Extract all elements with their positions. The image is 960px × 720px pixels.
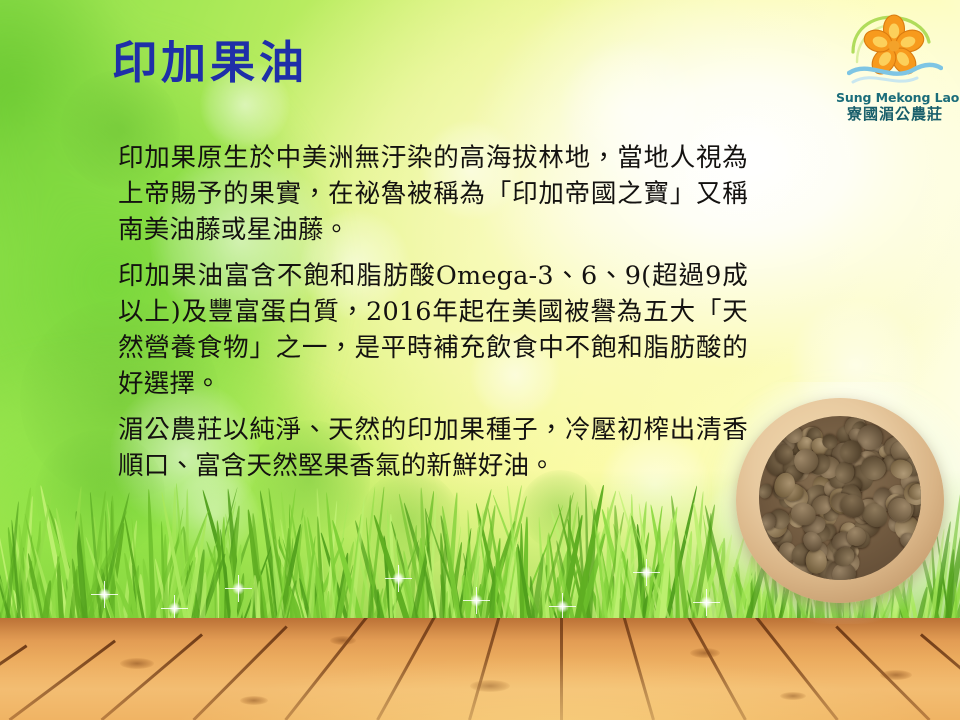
grass-sparkle (470, 594, 483, 607)
slide-canvas: 印加果油 印加果原生於中美洲無汙染的高海拔林地，當地人視為上帝賜予的果實，在祕魯… (0, 0, 960, 720)
grass-sparkle (168, 602, 181, 615)
body-text: 印加果原生於中美洲無汙染的高海拔林地，當地人視為上帝賜予的果實，在祕魯被稱為「印… (118, 140, 748, 484)
paragraph-1: 印加果原生於中美洲無汙染的高海拔林地，當地人視為上帝賜予的果實，在祕魯被稱為「印… (118, 140, 748, 248)
plumeria-flower-icon (847, 10, 943, 90)
grass-sparkle (392, 572, 405, 585)
grass-sparkle (98, 588, 111, 601)
seed-bowl-image (728, 396, 960, 614)
logo-chinese-name: 寮國湄公農莊 (836, 105, 954, 124)
page-title: 印加果油 (112, 38, 308, 88)
paragraph-3: 湄公農莊以純淨、天然的印加果種子，冷壓初榨出清香順口、富含天然堅果香氣的新鮮好油… (118, 412, 748, 484)
bowl-interior (759, 416, 921, 580)
paragraph-2: 印加果油富含不飽和脂肪酸Omega-3、6、9(超過9成以上)及豐富蛋白質，20… (118, 258, 748, 402)
grass-sparkle (232, 582, 245, 595)
wooden-bowl (736, 398, 944, 603)
grass-blade (52, 588, 56, 620)
grass-sparkle (640, 566, 653, 579)
brand-logo: Sung Mekong Lao 寮國湄公農莊 (836, 10, 954, 124)
wooden-deck (0, 618, 960, 720)
deck-shading (0, 618, 960, 720)
grass-sparkle (556, 600, 569, 613)
logo-english-name: Sung Mekong Lao (836, 91, 954, 105)
